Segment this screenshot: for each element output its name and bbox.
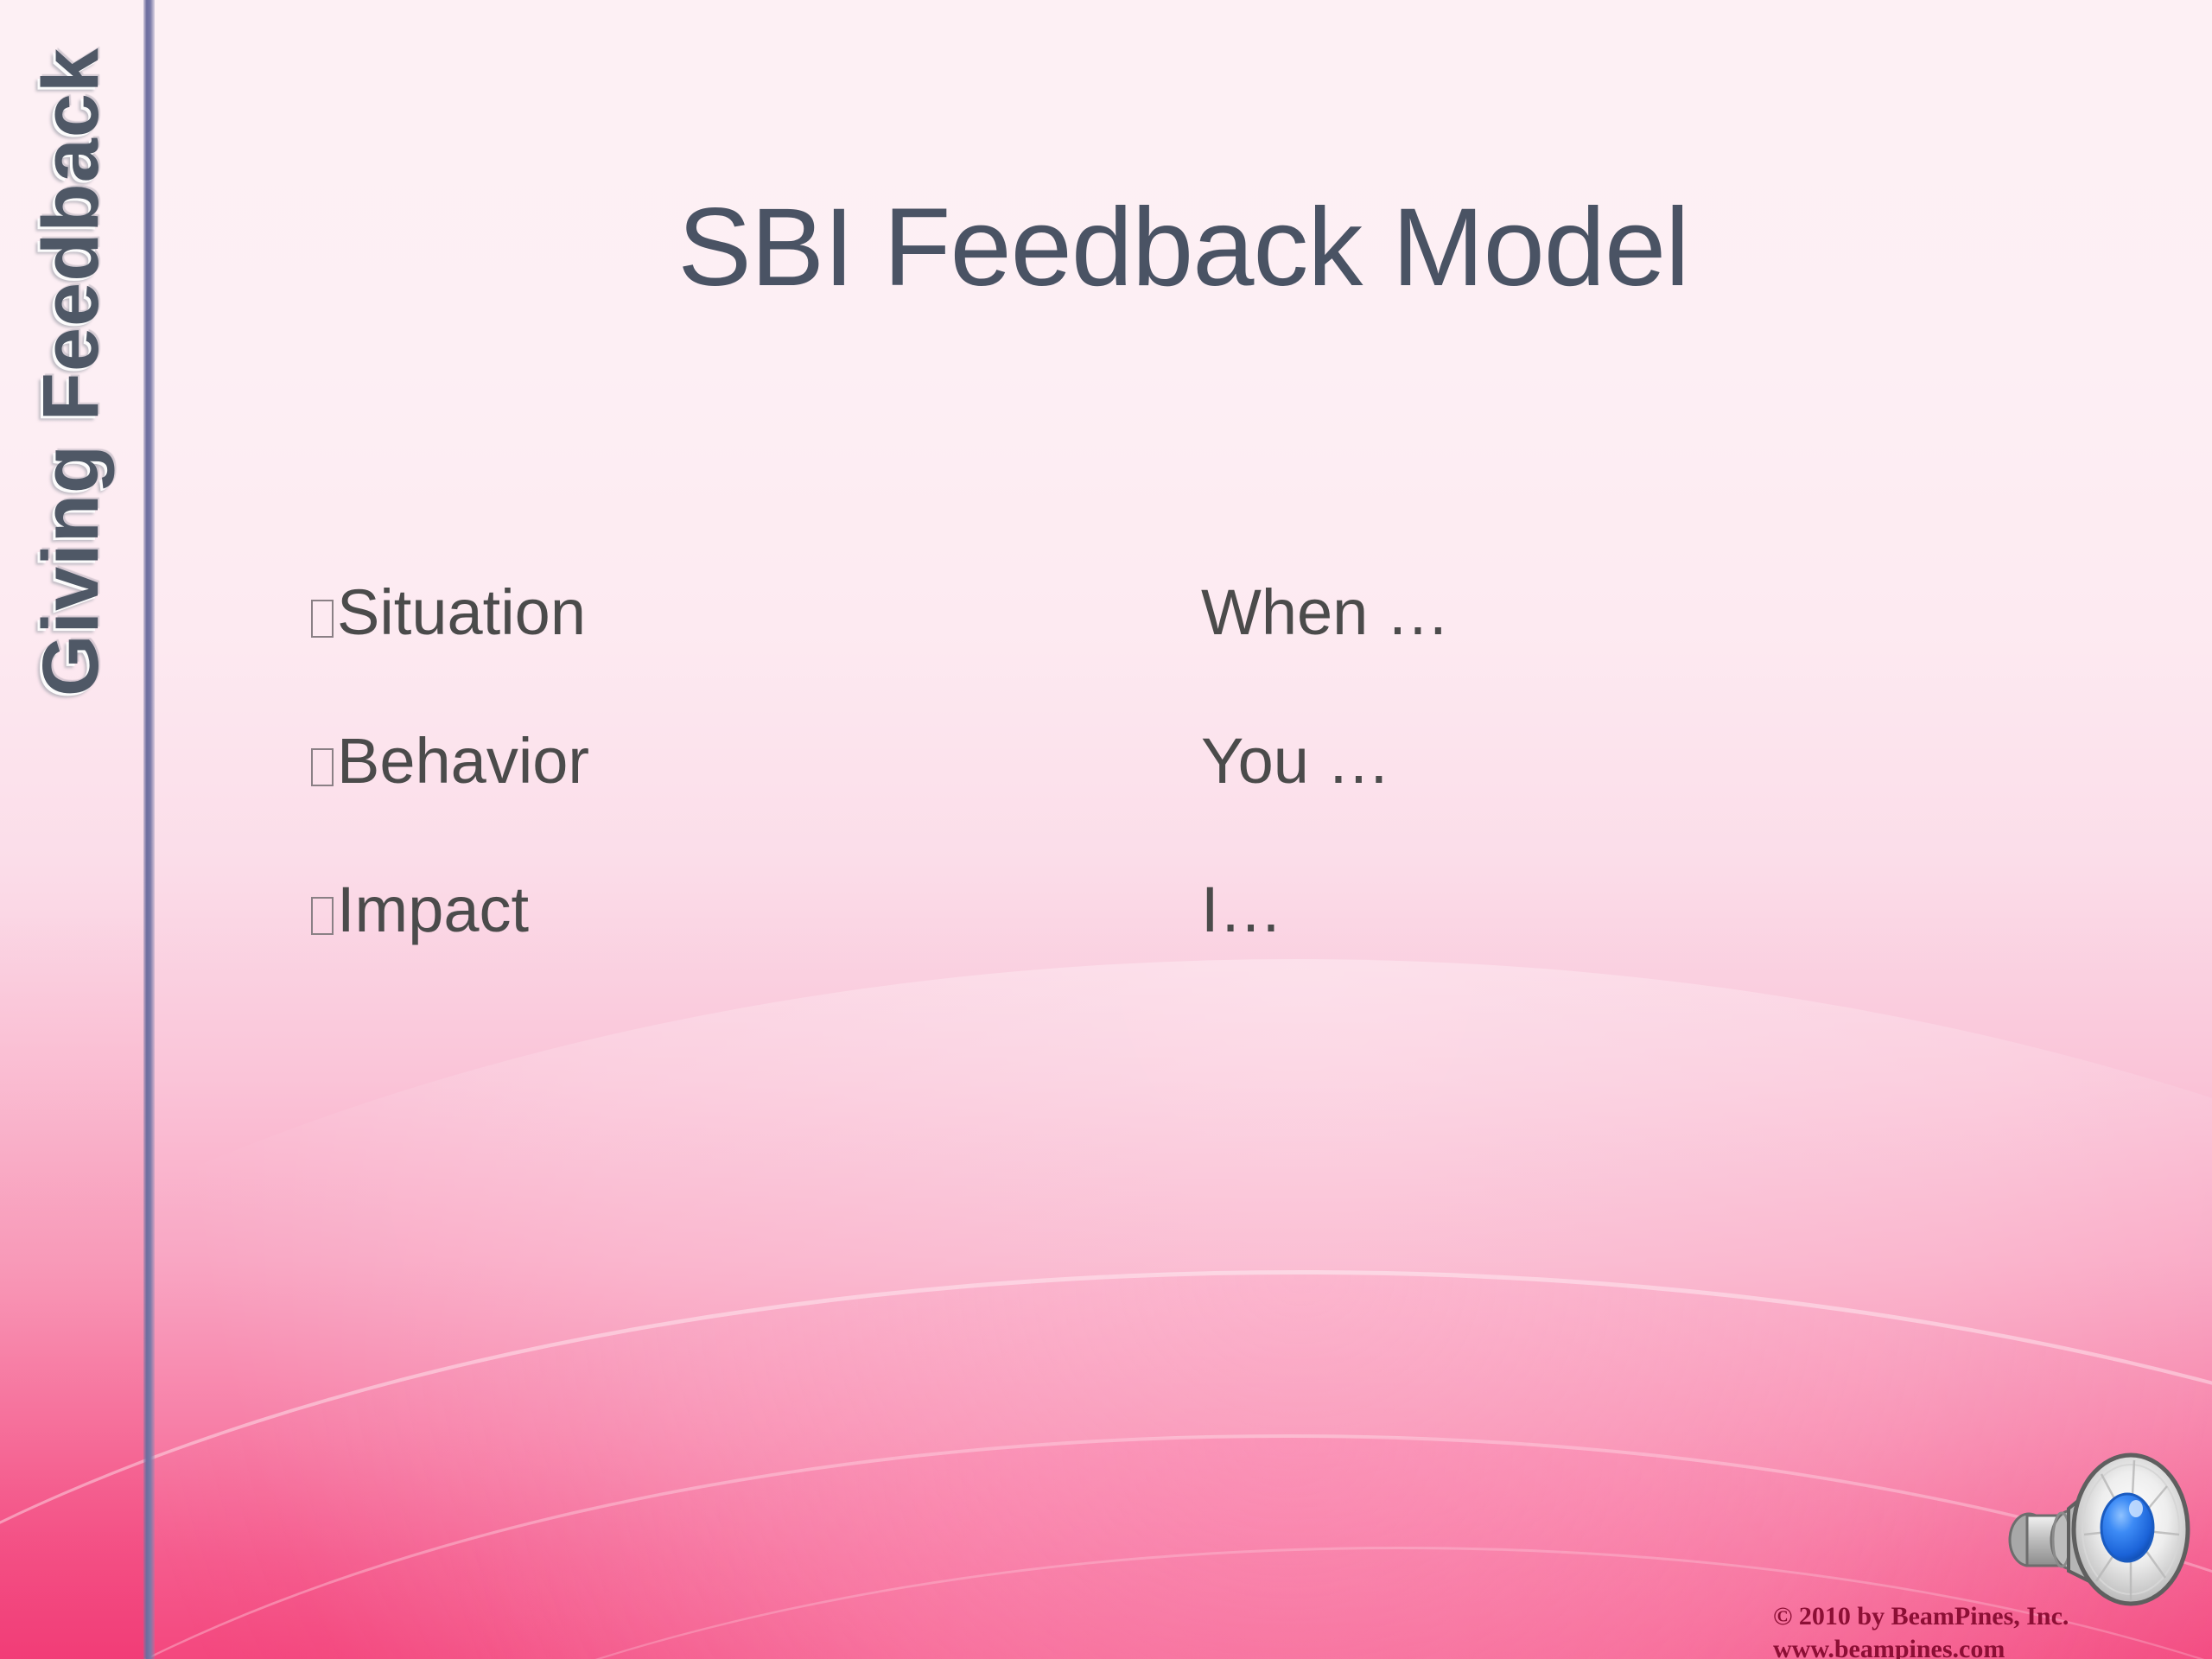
sbi-term-cell: Behavior bbox=[311, 729, 1201, 793]
footer-copyright: © 2010 by BeamPines, Inc. www.beampines.… bbox=[1773, 1600, 2069, 1659]
sidebar-section-label: Giving Feedback bbox=[27, 47, 118, 696]
bullet-box-icon bbox=[311, 748, 334, 786]
copyright-line: © 2010 by BeamPines, Inc. bbox=[1773, 1600, 2069, 1633]
sbi-definition-list: Situation When … Behavior You … Impact I… bbox=[311, 581, 1953, 1027]
sbi-term-label: Behavior bbox=[337, 729, 589, 793]
sbi-term-cell: Situation bbox=[311, 581, 1201, 645]
list-item: Situation When … bbox=[311, 581, 1953, 729]
bullet-box-icon bbox=[311, 897, 334, 935]
list-item: Behavior You … bbox=[311, 729, 1953, 878]
sbi-phrase-label: You … bbox=[1201, 725, 1390, 797]
sidebar-title-area: Giving Feedback bbox=[0, 0, 143, 743]
page-title: SBI Feedback Model bbox=[155, 188, 2212, 308]
sbi-phrase-cell: I… bbox=[1201, 878, 1953, 942]
sbi-term-label: Situation bbox=[337, 581, 586, 645]
sbi-phrase-label: When … bbox=[1201, 576, 1450, 648]
sbi-phrase-cell: When … bbox=[1201, 581, 1953, 645]
sbi-phrase-label: I… bbox=[1201, 874, 1283, 945]
list-item: Impact I… bbox=[311, 878, 1953, 1027]
slide-canvas: Giving Feedback SBI Feedback Model Situa… bbox=[0, 0, 2212, 1659]
sbi-term-label: Impact bbox=[337, 878, 529, 942]
vertical-divider-rule bbox=[143, 0, 155, 1659]
sbi-phrase-cell: You … bbox=[1201, 729, 1953, 793]
website-line: www.beampines.com bbox=[1773, 1633, 2069, 1659]
speaker-icon[interactable] bbox=[1996, 1433, 2203, 1618]
bullet-box-icon bbox=[311, 600, 334, 638]
sbi-term-cell: Impact bbox=[311, 878, 1201, 942]
